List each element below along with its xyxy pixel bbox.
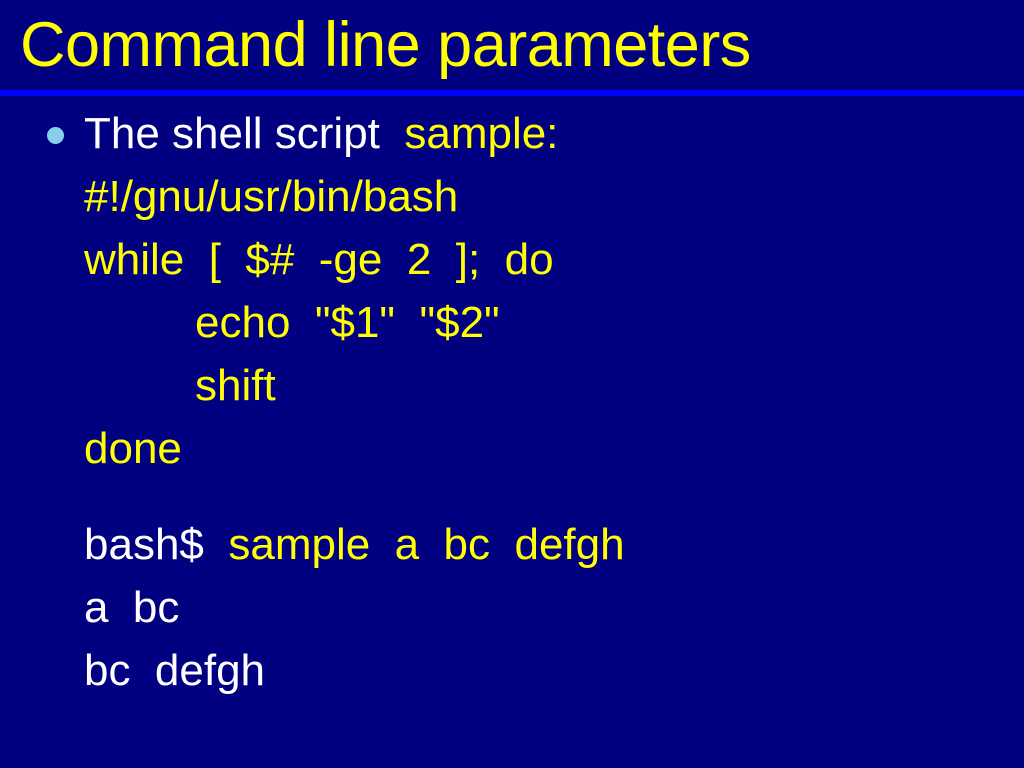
page-title: Command line parameters bbox=[20, 2, 751, 88]
slide-title-bar: Command line parameters bbox=[0, 0, 1024, 90]
slide-body: The shell script sample: #!/gnu/usr/bin/… bbox=[0, 96, 1024, 768]
terminal-output-line-2: bc defgh bbox=[84, 649, 265, 693]
bullet-intro-text: The shell script bbox=[84, 109, 404, 158]
code-line-done: done bbox=[84, 427, 182, 471]
terminal-command-line: bash$ sample a bc defgh bbox=[84, 523, 625, 567]
terminal-prompt: bash$ bbox=[84, 520, 228, 569]
bullet-dot-icon bbox=[47, 127, 64, 144]
code-line-echo: echo "$1" "$2" bbox=[195, 301, 500, 345]
terminal-command: sample a bc defgh bbox=[228, 520, 624, 569]
slide: Command line parameters The shell script… bbox=[0, 0, 1024, 768]
bullet-line: The shell script sample: bbox=[84, 112, 558, 156]
code-line-while: while [ $# -ge 2 ]; do bbox=[84, 238, 554, 282]
bullet-script-name: sample: bbox=[404, 109, 558, 158]
code-line-shebang: #!/gnu/usr/bin/bash bbox=[84, 175, 458, 219]
code-line-shift: shift bbox=[195, 364, 276, 408]
terminal-output-line-1: a bc bbox=[84, 586, 179, 630]
